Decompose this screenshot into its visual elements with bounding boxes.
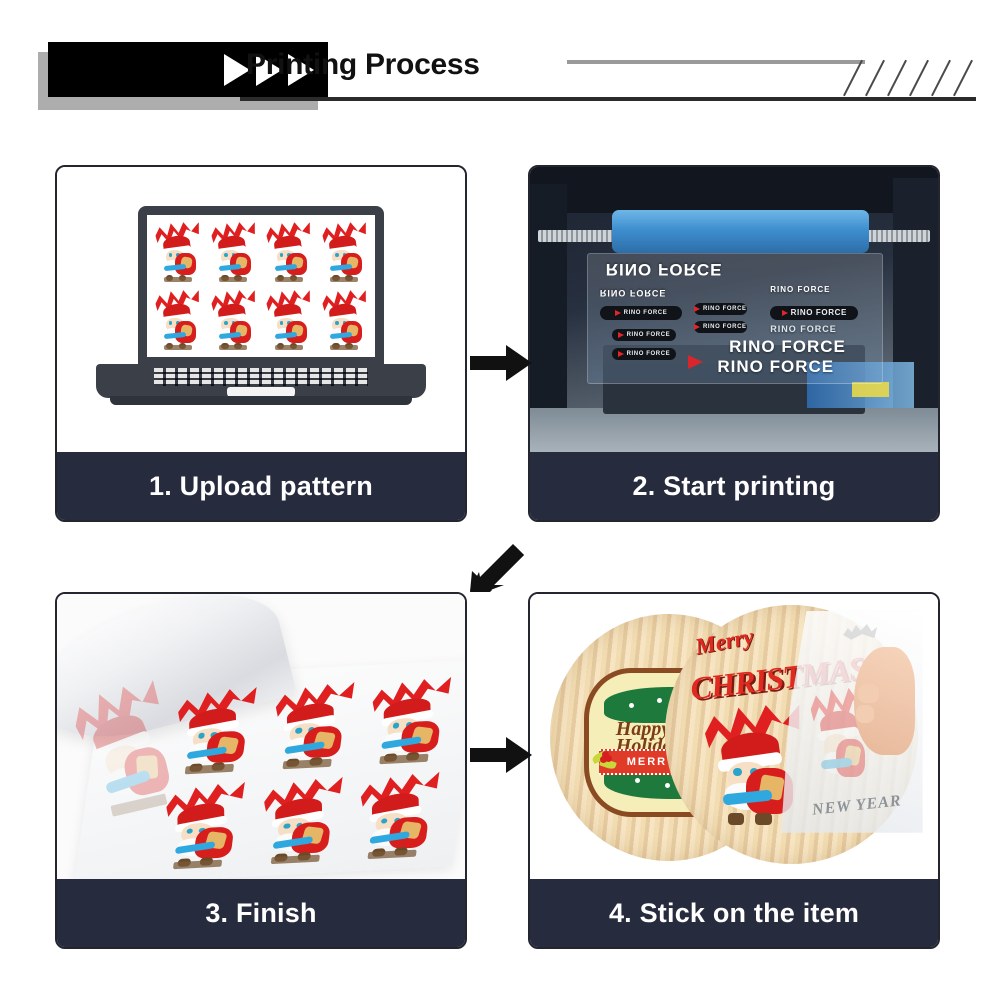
laptop-illustration <box>96 206 426 416</box>
brand-label-3: RINO FORCE <box>612 348 677 360</box>
step-1-caption: 1. Upload pattern <box>57 452 465 520</box>
transfer-film-photo <box>57 594 465 881</box>
process-steps-grid: 1. Upload pattern RINO FORCE RINO FORCE <box>0 0 1000 1000</box>
printed-sticker <box>357 673 462 769</box>
sticker-thumbnail <box>318 287 372 353</box>
brand-label-text: RINO FORCE <box>627 351 671 357</box>
step-card-4[interactable]: Happy Holidays MERRY XMAS Merry CHRISTMA… <box>528 592 940 949</box>
printed-sticker <box>259 678 364 774</box>
printer-blue-roller <box>612 210 869 253</box>
brand-label-text: RINO FORCE <box>703 324 747 330</box>
rino-logo-icon <box>618 332 624 338</box>
brand-label-6: RINO FORCE <box>770 306 858 320</box>
sticker-thumbnail <box>318 219 372 285</box>
printer-top-housing <box>530 167 938 213</box>
wooden-coasters-photo: Happy Holidays MERRY XMAS Merry CHRISTMA… <box>530 594 938 881</box>
hand-peeling-film <box>854 647 915 755</box>
brand-text-large-2: RINO FORCE <box>717 357 834 377</box>
holly-icon <box>592 745 619 770</box>
step-2-image: RINO FORCE RINO FORCE RINO FORCE RINO FO… <box>530 167 938 454</box>
step-3-caption: 3. Finish <box>57 879 465 947</box>
brand-label-4: RINO FORCE <box>694 303 747 315</box>
printed-sticker <box>150 778 255 874</box>
step-card-3[interactable]: 3. Finish <box>55 592 467 949</box>
arrow-step2-to-step3 <box>468 540 526 598</box>
arrow-step3-to-step4 <box>470 737 532 773</box>
brand-label-1: RINO FORCE <box>600 306 682 320</box>
rino-logo-icon-large <box>688 355 703 369</box>
printed-sticker-grid <box>150 673 461 874</box>
brand-label-5: RINO FORCE <box>694 321 747 333</box>
xmas-text-line3: NEW YEAR <box>811 792 902 819</box>
printed-film: RINO FORCE RINO FORCE RINO FORCE RINO FO… <box>587 253 883 384</box>
printer-floor <box>530 408 938 454</box>
rino-logo-icon <box>618 351 624 357</box>
brand-text-flipped-2: RINO FORCE <box>600 288 667 298</box>
printer-left-shaft <box>538 230 620 241</box>
brand-label-text: RINO FORCE <box>791 308 847 317</box>
step-4-caption: 4. Stick on the item <box>530 879 938 947</box>
step-1-image <box>57 167 465 454</box>
sticker-thumbnail <box>207 287 261 353</box>
sticker-thumbnail <box>151 219 205 285</box>
wooden-disc-right: Merry CHRISTMAS <box>665 605 918 863</box>
brand-text-large-1: RINO FORCE <box>729 337 846 357</box>
arrow-step1-to-step2 <box>470 345 532 381</box>
printed-sticker <box>248 773 353 869</box>
printed-sticker <box>345 768 450 864</box>
laptop-lid <box>138 206 384 366</box>
rino-logo-icon <box>694 306 700 312</box>
brand-label-text: RINO FORCE <box>624 310 668 316</box>
printer-yellow-sheet <box>852 382 889 396</box>
printer-left-frame <box>530 184 567 414</box>
step-card-2[interactable]: RINO FORCE RINO FORCE RINO FORCE RINO FO… <box>528 165 940 522</box>
brand-text-flipped-1: RINO FORCE <box>606 259 723 279</box>
brand-label-2: RINO FORCE <box>612 329 677 341</box>
sticker-thumbnail <box>262 287 316 353</box>
laptop-screen <box>147 215 375 357</box>
brand-text-small-2: RINO FORCE <box>770 324 837 334</box>
brand-label-text: RINO FORCE <box>703 306 747 312</box>
brand-label-text: RINO FORCE <box>627 332 671 338</box>
dtf-printer-photo: RINO FORCE RINO FORCE RINO FORCE RINO FO… <box>530 167 938 454</box>
brand-text-small: RINO FORCE <box>770 285 830 294</box>
step-4-image: Happy Holidays MERRY XMAS Merry CHRISTMA… <box>530 594 938 881</box>
step-card-1[interactable]: 1. Upload pattern <box>55 165 467 522</box>
rino-logo-icon <box>694 324 700 330</box>
laptop-keyboard <box>154 368 368 386</box>
step-2-caption: 2. Start printing <box>530 452 938 520</box>
rino-logo-icon <box>615 310 621 316</box>
printed-sticker <box>162 683 267 779</box>
sticker-thumbnail <box>262 219 316 285</box>
laptop-foot <box>110 396 412 405</box>
sticker-thumbnail <box>207 219 261 285</box>
step-3-image <box>57 594 465 881</box>
rino-logo-icon <box>782 310 788 316</box>
sticker-thumbnail <box>151 287 205 353</box>
